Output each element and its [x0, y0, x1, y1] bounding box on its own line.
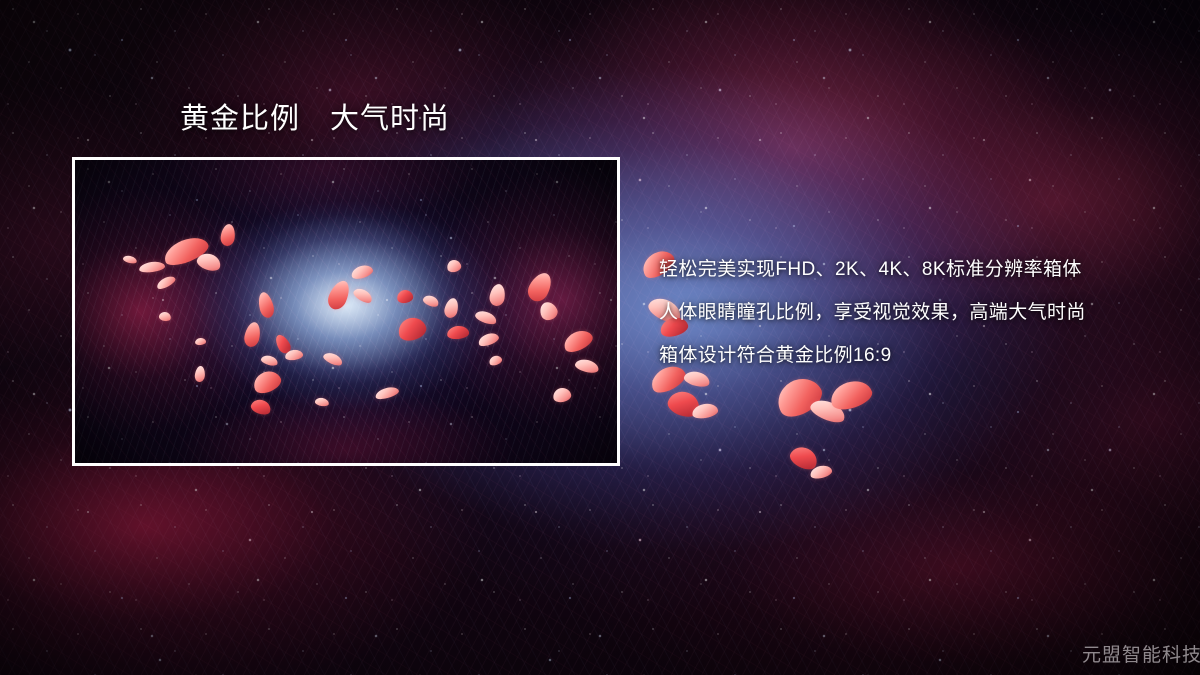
body-copy: 轻松完美实现FHD、2K、4K、8K标准分辨率箱体 人体眼睛瞳孔比例，享受视觉效… — [659, 256, 1086, 385]
body-line: 箱体设计符合黄金比例16:9 — [659, 342, 1086, 385]
body-line: 轻松完美实现FHD、2K、4K、8K标准分辨率箱体 — [659, 256, 1086, 299]
page-title: 黄金比例 大气时尚 — [180, 101, 450, 137]
display-frame-content — [75, 160, 617, 463]
preview-vignette — [75, 160, 617, 463]
display-frame[interactable] — [72, 157, 620, 466]
slide-canvas: 黄金比例 大气时尚 轻松完美实现FHD、2K、4K、8K标准分辨率箱体 人体眼睛… — [0, 0, 1200, 675]
body-line: 人体眼睛瞳孔比例，享受视觉效果，高端大气时尚 — [659, 299, 1086, 342]
watermark: 元盟智能科技 — [1082, 640, 1200, 667]
